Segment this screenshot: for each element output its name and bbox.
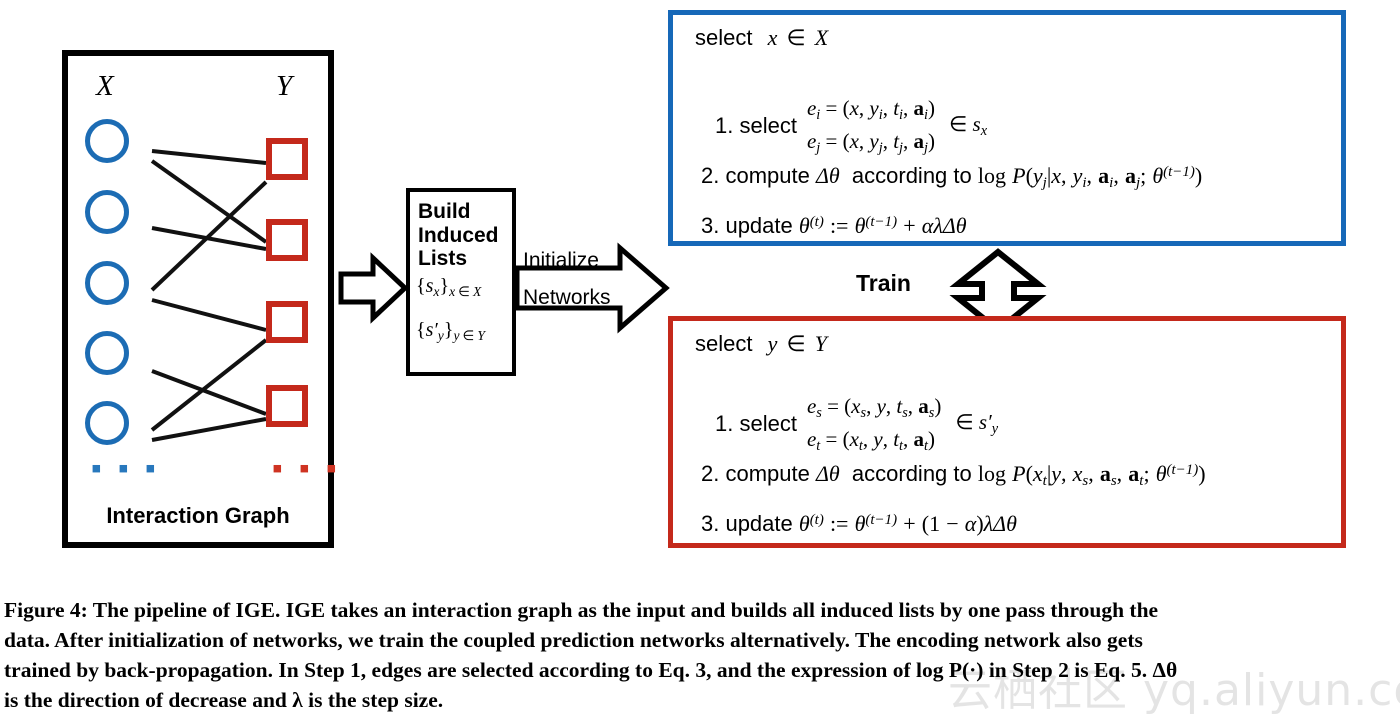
y-axis-label: Y <box>276 72 292 101</box>
caption-line-3: trained by back-propagation. In Step 1, … <box>4 656 1396 686</box>
red-step1-eq-t: et = (xt, y, tt, at) <box>807 424 941 457</box>
red-step1-membership: ∈ s′y <box>955 410 998 438</box>
blue-header-in: ∈ <box>784 25 809 50</box>
x-node[interactable] <box>85 119 129 163</box>
x-node[interactable] <box>85 401 129 445</box>
red-header-in: ∈ <box>784 331 809 356</box>
blue-header-set: X <box>815 25 828 50</box>
red-header-var: y <box>759 331 778 356</box>
interaction-graph-title: Interaction Graph <box>62 503 334 529</box>
build-line-2: Induced <box>418 224 518 248</box>
build-line-1: Build <box>418 200 518 224</box>
y-node[interactable] <box>266 138 308 180</box>
x-node[interactable] <box>85 261 129 305</box>
blue-step1-label: 1. select <box>715 113 797 139</box>
train-label: Train <box>856 270 911 297</box>
red-step1-eq-s: es = (xs, y, ts, as) <box>807 391 941 424</box>
y-node[interactable] <box>266 385 308 427</box>
caption-line-4: is the direction of decrease and λ is th… <box>4 686 1396 716</box>
blue-box-header: select x ∈ X <box>695 25 828 51</box>
induced-list-set-y: {s′y}y∈Y <box>416 319 485 344</box>
arrow-graph-to-build <box>341 258 405 318</box>
red-step1-label: 1. select <box>715 411 797 437</box>
induced-list-set-x: {sx}x∈X <box>416 275 481 300</box>
blue-header-var: x <box>759 25 778 50</box>
x-axis-label: X <box>96 72 114 101</box>
x-ellipsis: ▪ ▪ ▪ <box>91 454 160 484</box>
x-node[interactable] <box>85 190 129 234</box>
figure-caption: Figure 4: The pipeline of IGE. IGE takes… <box>4 596 1396 716</box>
y-ellipsis: ▪ ▪ ▪ <box>272 454 341 484</box>
red-box-header: select y ∈ Y <box>695 331 827 357</box>
blue-header-prefix: select <box>695 25 752 50</box>
caption-line-2: data. After initialization of networks, … <box>4 626 1396 656</box>
x-prediction-network-box: select x ∈ X 1. selectei = (x, yi, ti, a… <box>668 10 1346 246</box>
y-node[interactable] <box>266 219 308 261</box>
blue-step1-eq-j: ej = (x, yj, tj, aj) <box>807 126 935 159</box>
blue-step1-membership: ∈ sx <box>949 112 987 140</box>
red-step-2: 2. compute Δθ according to log P(xt|y, x… <box>701 461 1206 490</box>
blue-step-2: 2. compute Δθ according to log P(yj|x, y… <box>701 163 1202 192</box>
red-header-prefix: select <box>695 331 752 356</box>
red-step1-equations: es = (xs, y, ts, as)et = (xt, y, tt, at) <box>807 391 941 456</box>
blue-step1-eq-i: ei = (x, yi, ti, ai) <box>807 93 935 126</box>
y-prediction-network-box: select y ∈ Y 1. selectes = (xs, y, ts, a… <box>668 316 1346 548</box>
caption-line-1: Figure 4: The pipeline of IGE. IGE takes… <box>4 596 1396 626</box>
red-step-1: 1. selectes = (xs, y, ts, as)et = (xt, y… <box>715 391 998 456</box>
blue-step-3: 3. update θ(t) := θ(t−1) + αλΔθ <box>701 213 967 239</box>
blue-step-1: 1. selectei = (x, yi, ti, ai)ej = (x, yj… <box>715 93 987 158</box>
build-induced-lists-title: Build Induced Lists <box>418 200 518 271</box>
networks-label: Networks <box>523 286 611 310</box>
build-line-3: Lists <box>418 247 518 271</box>
y-node[interactable] <box>266 301 308 343</box>
blue-step1-equations: ei = (x, yi, ti, ai)ej = (x, yj, tj, aj) <box>807 93 935 158</box>
x-node[interactable] <box>85 331 129 375</box>
red-header-set: Y <box>815 331 827 356</box>
red-step-3: 3. update θ(t) := θ(t−1) + (1 − α)λΔθ <box>701 511 1017 537</box>
figure-canvas: X Y ▪ ▪ ▪ ▪ ▪ ▪ Interaction Graph Build … <box>0 0 1400 719</box>
initialize-label: Initialize <box>523 249 599 273</box>
